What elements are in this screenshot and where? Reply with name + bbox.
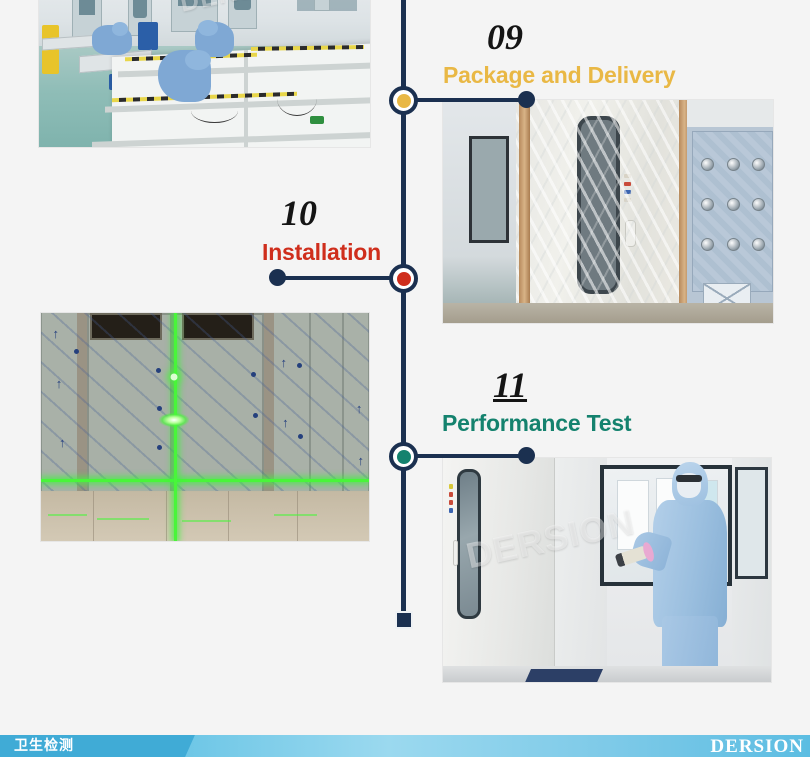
connector-dot-09	[518, 91, 535, 108]
timeline-node-11[interactable]	[389, 442, 418, 471]
photo-installation-laser-alignment: ↑ ↑ ↑ ↑ ↑ ↑ ↑	[40, 312, 370, 542]
node-core-09	[397, 94, 411, 108]
footer-logo-text: 卫生检测	[14, 737, 74, 755]
connector-line-11	[416, 454, 528, 458]
connector-dot-11	[518, 447, 535, 464]
footer-brand-text: DERSION	[710, 736, 804, 757]
step-title-09: Package and Delivery	[443, 62, 676, 89]
step-title-10: Installation	[262, 239, 381, 266]
footer-bar: 卫生检测 DERSION	[0, 735, 810, 757]
connector-line-09	[416, 98, 528, 102]
connector-dot-10	[269, 269, 286, 286]
photo-package-and-delivery	[442, 99, 774, 324]
photo-ceiling-panel-assembly: DERSION	[38, 0, 371, 148]
process-timeline-page: DERSION 09 Package and Delivery	[0, 0, 810, 757]
timeline-node-09[interactable]	[389, 86, 418, 115]
step-number-11: 11	[493, 364, 527, 406]
timeline-node-10[interactable]	[389, 264, 418, 293]
step-title-11: Performance Test	[442, 410, 631, 437]
timeline-end-marker	[395, 611, 413, 629]
connector-line-10	[277, 276, 395, 280]
step-number-09: 09	[487, 16, 523, 58]
node-core-10	[397, 272, 411, 286]
step-number-10: 10	[281, 192, 317, 234]
node-core-11	[397, 450, 411, 464]
photo-performance-test: DERSION	[442, 457, 772, 683]
